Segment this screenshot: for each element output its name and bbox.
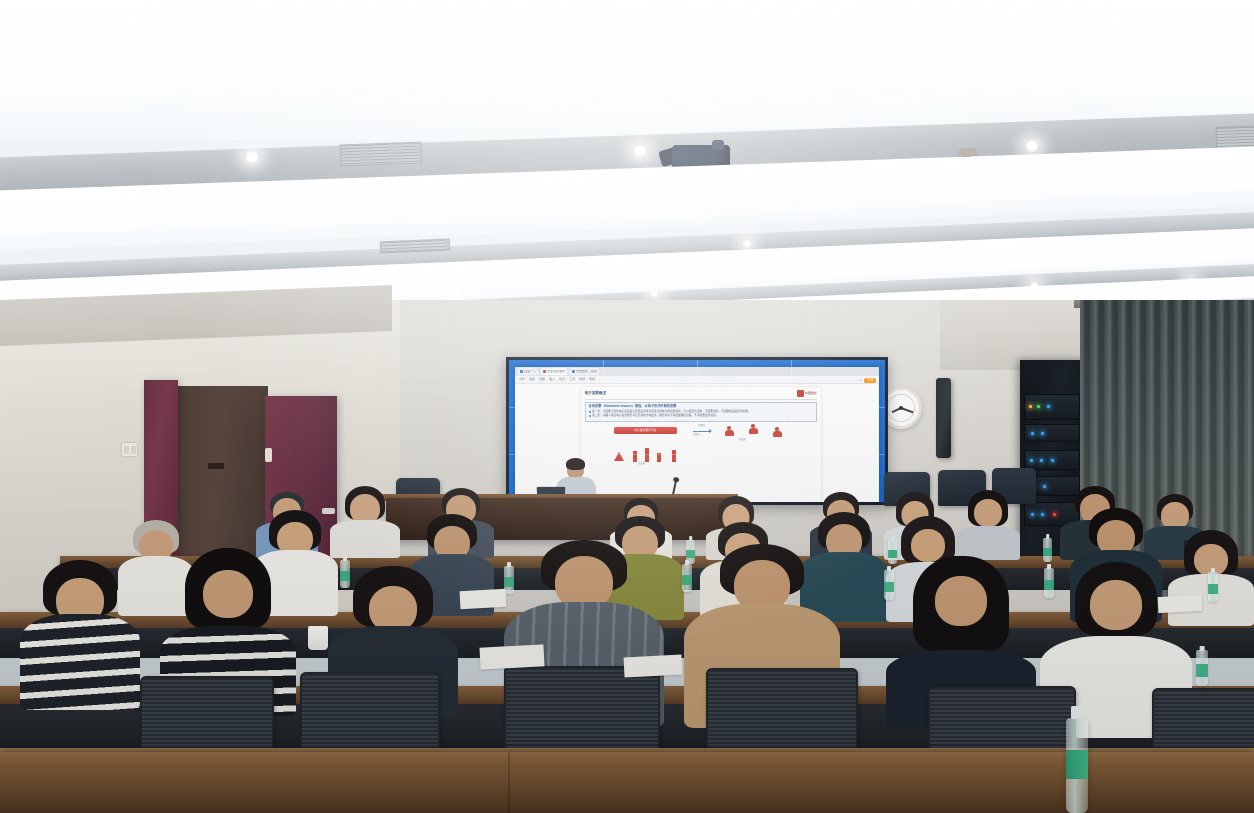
- slide-header: 电子发票概述 中国税务: [585, 390, 817, 400]
- toolbar-item-edit[interactable]: 编辑: [529, 378, 535, 381]
- toolbar-item-data[interactable]: 数据: [579, 378, 585, 381]
- person-icon: [773, 427, 782, 438]
- maximize-icon[interactable]: □: [860, 379, 862, 382]
- diagram-label-tax-bureau: 税务局: [739, 439, 746, 441]
- attendee-front-1: [20, 560, 140, 710]
- favicon-icon: [572, 370, 575, 373]
- window-controls[interactable]: – □ 下载: [857, 378, 877, 383]
- clock-center-pin: [899, 406, 903, 410]
- bullet-dot-icon: [589, 415, 591, 417]
- door-sign: [208, 463, 224, 469]
- rack-unit: [1024, 424, 1080, 442]
- toolbar-item-format[interactable]: 格式: [559, 378, 565, 381]
- toolbar-item-file[interactable]: 文件: [519, 378, 525, 381]
- bar-icon: [645, 448, 649, 462]
- mesh-chair[interactable]: [504, 666, 660, 758]
- toolbar-item-tools[interactable]: 工具: [569, 378, 575, 381]
- attendee-head: [1090, 580, 1142, 630]
- water-bottle[interactable]: [1043, 538, 1052, 562]
- browser-tab[interactable]: 百度一下: [518, 368, 538, 375]
- attendee-torso: [330, 520, 400, 558]
- conference-room-photo: 百度一下 企业培训课件 文档预览 - 在线 文件 编辑 视图 插入: [0, 0, 1254, 813]
- toolbar-item-view[interactable]: 视图: [539, 378, 545, 381]
- downlight: [632, 145, 648, 157]
- diagram-label-issuer: 开票方: [698, 425, 705, 427]
- panel-seam: [603, 360, 604, 502]
- bottle-cap: [1071, 706, 1083, 719]
- bar-icon: [672, 450, 676, 462]
- attendee-head: [203, 570, 253, 618]
- downlight: [244, 151, 260, 163]
- bullet-item: 第一条：全面数字化的电子发票是与纸质发票具有同等法律效力的新型发票，不以纸质为载…: [589, 410, 813, 413]
- paper-cup[interactable]: [308, 626, 328, 650]
- tab-label: 百度一下: [524, 370, 536, 373]
- bullet-dot-icon: [589, 411, 591, 413]
- water-bottle-foreground[interactable]: [1066, 718, 1088, 813]
- panel-seam: [509, 454, 885, 455]
- org-logo: 中国税务: [797, 390, 817, 397]
- handout-papers[interactable]: [479, 644, 544, 669]
- flow-diagram: 电子发票服务平台 开票方 受票方 税务局: [581, 425, 821, 467]
- mesh-chair[interactable]: [300, 672, 440, 754]
- mesh-chair[interactable]: [140, 676, 274, 756]
- browser-tab-active[interactable]: 企业培训课件: [541, 368, 567, 375]
- bottle-label: [1066, 750, 1088, 779]
- attendee-head: [974, 499, 1002, 527]
- document-page: 电子发票概述 中国税务 全电发票（Electronic Invoice）是指，以…: [581, 387, 821, 502]
- toolbar-item-help[interactable]: 帮助: [589, 378, 595, 381]
- platform-banner: 电子发票服务平台: [614, 427, 676, 434]
- favicon-icon: [520, 370, 523, 373]
- handout-papers[interactable]: [624, 654, 683, 677]
- water-bottle[interactable]: [1208, 572, 1218, 602]
- air-vent: [340, 142, 423, 167]
- browser-tab[interactable]: 文档预览 - 在线: [570, 368, 599, 375]
- tab-label: 文档预览 - 在线: [576, 370, 597, 373]
- rack-unit: [1024, 450, 1080, 470]
- panel-seam: [791, 360, 792, 502]
- attendee-head: [935, 576, 987, 626]
- favicon-icon: [543, 370, 546, 373]
- callout-box: 全电发票（Electronic Invoice）是指，以电子形式开具的发票 第一…: [585, 402, 817, 422]
- handout-papers[interactable]: [460, 589, 507, 609]
- tab-label: 企业培训课件: [547, 370, 565, 373]
- panel-seam: [697, 360, 698, 502]
- ceiling-light-panel: [0, 0, 1254, 140]
- bar-icon: [633, 451, 637, 462]
- bullet-text: 第二条：纳税人通过电子发票服务平台开具的全电发票，税务机关不再发放税控设备，不再…: [592, 414, 718, 417]
- light-switch[interactable]: [121, 442, 138, 457]
- minimize-icon[interactable]: –: [857, 379, 859, 382]
- flow-arrow: [693, 431, 710, 432]
- person-icon: [725, 426, 734, 437]
- bullet-text: 第一条：全面数字化的电子发票是与纸质发票具有同等法律效力的新型发票，不以纸质为载…: [592, 410, 751, 413]
- projector-mount-knob: [712, 140, 724, 150]
- attendee-torso-striped: [20, 614, 140, 710]
- panel-seam: [509, 407, 885, 408]
- desk-seam: [508, 752, 510, 813]
- person-icon: [749, 424, 758, 435]
- wall-speaker: [936, 378, 951, 458]
- water-bottle[interactable]: [1196, 650, 1208, 686]
- diagram-label-enterprise: 企业端: [638, 463, 645, 465]
- downlight: [650, 290, 659, 297]
- presenter-hair: [566, 458, 585, 470]
- platform-banner-label: 电子发票服务平台: [634, 429, 656, 432]
- door-handle[interactable]: [265, 448, 272, 462]
- logo-mark-icon: [797, 390, 804, 397]
- toolbar-item-insert[interactable]: 插入: [549, 378, 555, 381]
- logo-text: 中国税务: [805, 392, 817, 395]
- downlight: [742, 240, 752, 248]
- rack-unit: [1024, 394, 1080, 420]
- download-button[interactable]: 下载: [864, 378, 876, 383]
- attendee-back-2: [330, 486, 400, 558]
- downlight: [1024, 140, 1040, 152]
- mesh-chair[interactable]: [706, 668, 858, 758]
- bullet-item: 第二条：纳税人通过电子发票服务平台开具的全电发票，税务机关不再发放税控设备，不再…: [589, 414, 813, 417]
